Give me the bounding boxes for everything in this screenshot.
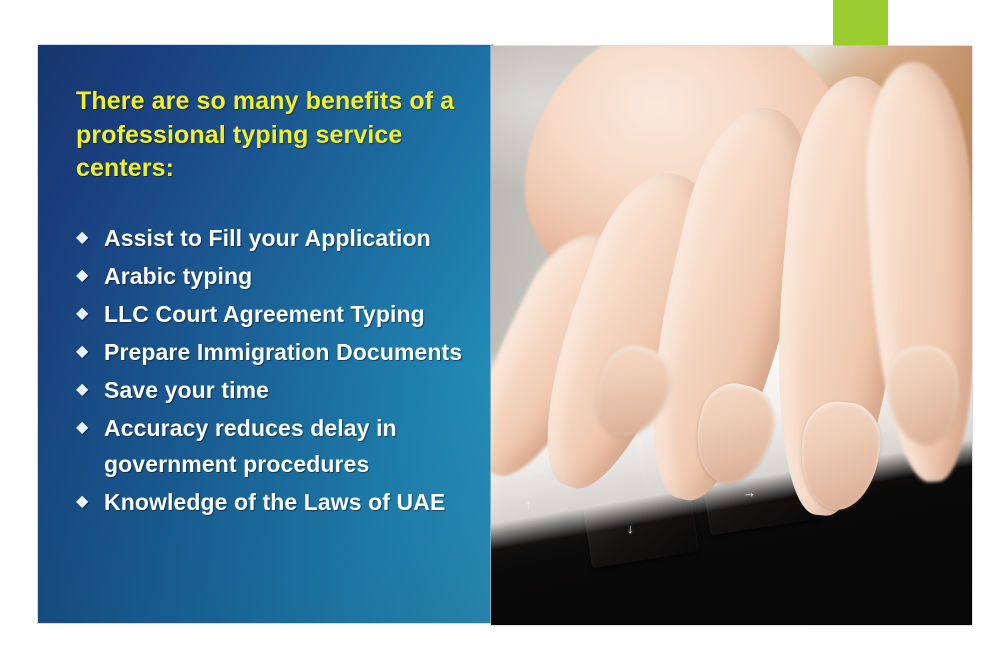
list-item-label: Prepare Immigration Documents bbox=[104, 334, 473, 370]
list-item: ◆ Assist to Fill your Application bbox=[76, 220, 473, 256]
diamond-bullet-icon: ◆ bbox=[76, 372, 104, 408]
diamond-bullet-icon: ◆ bbox=[76, 410, 104, 446]
diamond-bullet-icon: ◆ bbox=[76, 484, 104, 520]
diamond-bullet-icon: ◆ bbox=[76, 220, 104, 256]
list-item-label: Arabic typing bbox=[104, 258, 473, 294]
list-item: ◆ Arabic typing bbox=[76, 258, 473, 294]
benefits-list: ◆ Assist to Fill your Application ◆ Arab… bbox=[76, 220, 473, 520]
diamond-bullet-icon: ◆ bbox=[76, 296, 104, 332]
list-item: ◆ Accuracy reduces delay in government p… bbox=[76, 410, 473, 482]
list-item-label: Knowledge of the Laws of UAE bbox=[104, 484, 473, 520]
green-accent-bar bbox=[833, 0, 888, 46]
list-item-label: Save your time bbox=[104, 372, 473, 408]
list-item: ◆ Prepare Immigration Documents bbox=[76, 334, 473, 370]
list-item-label: Accuracy reduces delay in government pro… bbox=[104, 410, 473, 482]
list-item-label: LLC Court Agreement Typing bbox=[104, 296, 473, 332]
page-title: There are so many benefits of a professi… bbox=[76, 85, 471, 186]
slide-canvas: There are so many benefits of a professi… bbox=[0, 0, 1000, 650]
blue-text-panel: There are so many benefits of a professi… bbox=[38, 45, 493, 623]
list-item: ◆ LLC Court Agreement Typing bbox=[76, 296, 473, 332]
typing-hand-photo: ↑ ← ↓ → bbox=[491, 46, 972, 625]
diamond-bullet-icon: ◆ bbox=[76, 334, 104, 370]
list-item: ◆ Save your time bbox=[76, 372, 473, 408]
list-item-label: Assist to Fill your Application bbox=[104, 220, 473, 256]
list-item: ◆ Knowledge of the Laws of UAE bbox=[76, 484, 473, 520]
panel-content: There are so many benefits of a professi… bbox=[38, 45, 493, 520]
diamond-bullet-icon: ◆ bbox=[76, 258, 104, 294]
